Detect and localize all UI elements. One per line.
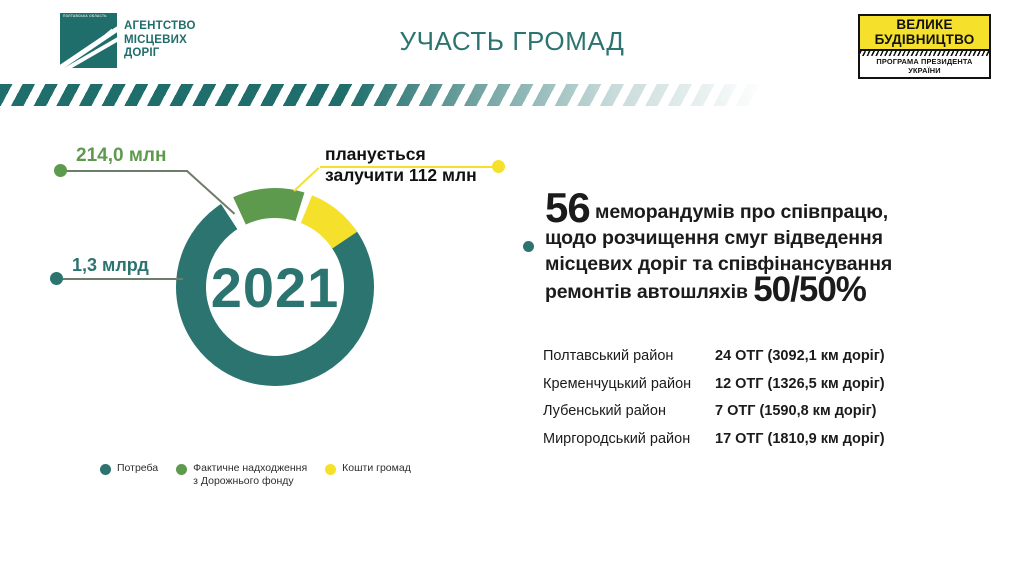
velyke-budivnytstvo-subtitle: ПРОГРАМА ПРЕЗИДЕНТА УКРАЇНИ: [858, 56, 991, 79]
callout-dot-yellow: [492, 160, 505, 173]
table-row: Лубенський район 7 ОТГ (1590,8 км доріг): [543, 403, 938, 419]
legend-label-dorozhniy-fond-line2: з Дорожнього фонду: [193, 475, 294, 487]
legend-item-potreba[interactable]: Потреба: [100, 462, 158, 475]
leader-line-green: [63, 170, 188, 172]
agency-logo-region-label: ПОЛТАВСЬКА ОБЛАСТЬ: [63, 14, 107, 18]
legend-label-dorozhniy-fond-line1: Фактичне надходження: [193, 462, 307, 474]
decorative-stripe-band: [0, 84, 765, 106]
callout-label-dorozhniy-fond: 214,0 млн: [76, 145, 166, 167]
statement-block: 56 меморандумів про співпрацю, щодо розч…: [545, 193, 945, 305]
donut-center-year: 2021: [170, 182, 380, 392]
district-name: Лубенський район: [543, 403, 715, 419]
legend-item-koshty-hromad[interactable]: Кошти громад: [325, 462, 411, 475]
leader-line-teal: [58, 278, 183, 280]
legend-swatch-green: [176, 464, 187, 475]
callout-dot-teal: [50, 272, 63, 285]
district-name: Миргородський район: [543, 431, 715, 447]
district-value: 24 ОТГ (3092,1 км доріг): [715, 348, 885, 364]
districts-table: Полтавський район 24 ОТГ (3092,1 км дорі…: [543, 348, 938, 458]
velyke-budivnytstvo-logo: ВЕЛИКЕ БУДІВНИЦТВО ПРОГРАМА ПРЕЗИДЕНТА У…: [858, 14, 991, 79]
district-value: 12 ОТГ (1326,5 км доріг): [715, 376, 885, 392]
callout-label-koshty-hromad: планується залучити 112 млн: [325, 144, 477, 186]
statement-bullet-icon: [523, 241, 534, 252]
velyke-budivnytstvo-title: ВЕЛИКЕ БУДІВНИЦТВО: [858, 14, 991, 51]
statement-line2: щодо розчищення смуг відведення: [545, 227, 883, 249]
table-row: Миргородський район 17 ОТГ (1810,9 км до…: [543, 431, 938, 447]
table-row: Полтавський район 24 ОТГ (3092,1 км дорі…: [543, 348, 938, 364]
table-row: Кременчуцький район 12 ОТГ (1326,5 км до…: [543, 376, 938, 392]
statement-text: 56 меморандумів про співпрацю, щодо розч…: [545, 193, 945, 305]
legend-label-potreba: Потреба: [117, 462, 158, 475]
legend-label-dorozhniy-fond: Фактичне надходження з Дорожнього фонду: [193, 462, 307, 487]
legend-swatch-teal: [100, 464, 111, 475]
district-value: 17 ОТГ (1810,9 км доріг): [715, 431, 885, 447]
statement-line4: ремонтів автошляхів: [545, 281, 748, 303]
legend-swatch-yellow: [325, 464, 336, 475]
statement-line1: меморандумів про співпрацю,: [595, 201, 888, 223]
district-name: Кременчуцький район: [543, 376, 715, 392]
slide-root: ПОЛТАВСЬКА ОБЛАСТЬ АГЕНТСТВО МІСЦЕВИХ ДО…: [0, 0, 1024, 575]
callout-label-koshty-hromad-line1: планується: [325, 144, 477, 165]
callout-label-koshty-hromad-line2: залучити 112 млн: [325, 165, 477, 186]
district-value: 7 ОТГ (1590,8 км доріг): [715, 403, 877, 419]
callout-dot-green: [54, 164, 67, 177]
memorandum-count: 56: [545, 184, 590, 231]
district-name: Полтавський район: [543, 348, 715, 364]
legend-item-dorozhniy-fond[interactable]: Фактичне надходження з Дорожнього фонду: [176, 462, 307, 487]
cofinancing-ratio: 50/50%: [753, 270, 866, 309]
callout-label-potreba: 1,3 млрд: [72, 255, 149, 276]
legend-label-koshty-hromad: Кошти громад: [342, 462, 411, 475]
donut-chart: 2021: [170, 182, 380, 392]
chart-legend: Потреба Фактичне надходження з Дорожньог…: [100, 462, 411, 487]
